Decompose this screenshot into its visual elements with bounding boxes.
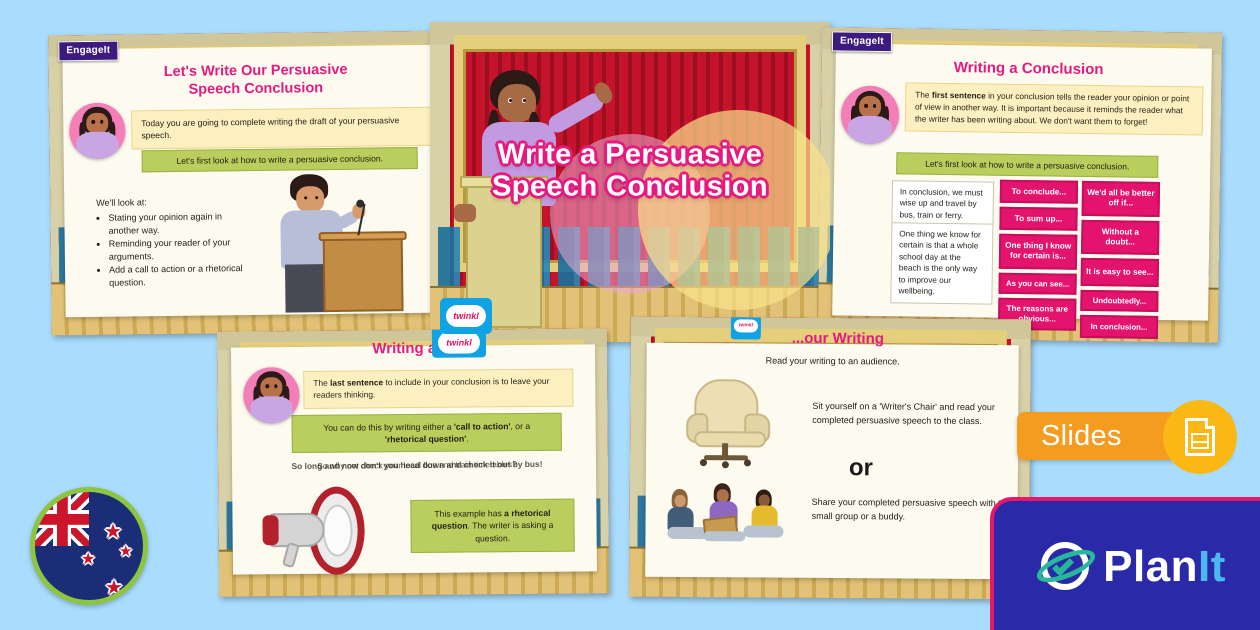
southern-cross-star: ★: [119, 544, 132, 559]
bottom-line-1: This example has: [434, 508, 501, 519]
slide5-text-2: Share your completed persuasive speech w…: [812, 496, 1014, 524]
slide3-phrase-column-right: We'd all be better off if... Without a d…: [1080, 181, 1160, 339]
slide1-cream-box: Today you are going to complete writing …: [131, 107, 431, 150]
slide2-title-block: Write a Persuasive Speech Conclusion: [430, 138, 830, 203]
document-icon: [1163, 400, 1237, 474]
cream-bold: last sentence: [330, 377, 383, 387]
screenshot-canvas: Let's Write Our Persuasive Speech Conclu…: [0, 0, 1260, 630]
cream-pre: The: [313, 378, 330, 388]
transition-text-incoming: So long and now don't you head down and …: [282, 459, 552, 473]
slide-content-area: Writing a C... The last sentence to incl…: [231, 344, 597, 574]
engage-badge: EngageIt: [58, 41, 118, 62]
green-bold-2: 'rhetorical question': [385, 434, 467, 445]
slide2-title-line1: Write a Persuasive: [430, 138, 830, 170]
slide-thumbnail-2-title[interactable]: Write a Persuasive Speech Conclusion twi…: [430, 22, 830, 342]
slide3-phrase-column-left: To conclude... To sum up... One thing I …: [998, 180, 1078, 331]
slide3-cream-box: The first sentence in your conclusion te…: [905, 82, 1204, 135]
green-pre: You can do this by writing either a: [323, 422, 454, 433]
megaphone-illustration: [246, 486, 387, 577]
slide4-cream-box: The last sentence to include in your con…: [303, 369, 573, 409]
slide5-text-1: Sit yourself on a 'Writer's Chair' and r…: [812, 400, 1008, 428]
twinkl-label: twinkl: [453, 311, 479, 321]
list-item: Reminding your reader of your arguments.: [109, 236, 247, 264]
phrase-box[interactable]: It is easy to see...: [1081, 258, 1159, 287]
phrase-box[interactable]: To sum up...: [999, 207, 1077, 231]
avatar: [841, 85, 900, 144]
slide1-list: We'll look at: Stating your opinion agai…: [96, 195, 247, 290]
slide3-title: Writing a Conclusion: [860, 58, 1198, 81]
planit-text-it: It: [1198, 542, 1226, 591]
document-glyph: [1185, 418, 1215, 456]
bottom-line-2: . The writer is asking a question.: [468, 520, 554, 543]
green-mid: , or a: [510, 421, 530, 431]
planit-text-plan: Plan: [1103, 542, 1198, 591]
twinkl-logo-badge-small: twinkl: [731, 317, 761, 340]
cream-bold: first sentence: [932, 90, 986, 101]
cream-pre: The: [915, 90, 932, 100]
union-jack-cross-red: [35, 492, 89, 546]
southern-cross-star: ★: [104, 522, 122, 542]
phrase-box[interactable]: In conclusion...: [1080, 315, 1158, 339]
slide3-green-box: Let's first look at how to write a persu…: [896, 152, 1158, 178]
twinkl-cloud-icon: twinkl: [438, 331, 480, 353]
green-post: .: [466, 434, 468, 444]
avatar: [243, 367, 299, 423]
slide1-list-heading: We'll look at:: [96, 195, 246, 210]
twinkl-label: twinkl: [446, 337, 472, 347]
phrase-box[interactable]: Without a doubt...: [1081, 219, 1159, 255]
slides-badge: Slides: [1017, 400, 1260, 472]
phrase-box[interactable]: We'd all be better off if...: [1082, 181, 1160, 217]
slide2-title-line2: Speech Conclusion: [430, 171, 830, 203]
twinkl-cloud-icon: twinkl: [734, 319, 758, 332]
slide-thumbnail-1[interactable]: Let's Write Our Persuasive Speech Conclu…: [48, 31, 452, 336]
slide-thumbnail-4[interactable]: Writing a C... The last sentence to incl…: [217, 328, 609, 596]
slide4-transition-text: So why not check your local bus and trai…: [282, 459, 552, 487]
slide4-bottom-box: This example has a rhetorical question. …: [410, 499, 574, 554]
slide1-title-line2: Speech Conclusion: [87, 79, 425, 101]
slide5-or-label: or: [796, 454, 926, 483]
southern-cross-star: ★: [105, 578, 123, 598]
slide5-title: ...our Writing: [677, 329, 999, 347]
twinkl-cloud-icon: twinkl: [446, 305, 486, 327]
phrase-box[interactable]: To conclude...: [1000, 180, 1078, 204]
engage-badge: EngageIt: [832, 31, 892, 52]
slide3-example-2: One thing we know for certain is that a …: [890, 222, 993, 304]
boy-at-podium-illustration: [260, 173, 412, 315]
armchair-illustration: [678, 379, 789, 472]
planit-planet-check-icon: [1039, 540, 1093, 594]
avatar: [69, 103, 126, 160]
green-bold-1: 'call to action': [454, 421, 511, 431]
phrase-box[interactable]: Undoubtedly...: [1080, 290, 1158, 312]
planit-wordmark: PlanIt: [1103, 542, 1226, 592]
slide-thumbnail-5[interactable]: ...our Writing Read your writing to an a…: [629, 317, 1031, 600]
children-reading-on-floor-illustration: [667, 483, 797, 546]
planit-logo: PlanIt: [990, 497, 1260, 630]
slide-thumbnail-3[interactable]: Writing a Conclusion The first sentence …: [818, 27, 1222, 343]
slide-content-area: Writing a Conclusion The first sentence …: [832, 43, 1212, 320]
phrase-box[interactable]: As you can see...: [998, 272, 1076, 294]
slide3-example-1: In conclusion, we must wise up and trave…: [891, 180, 994, 228]
phrase-box[interactable]: One thing I know for certain is...: [999, 234, 1077, 270]
list-item: Add a call to action or a rhetorical que…: [109, 262, 247, 290]
slide5-intro: Read your writing to an audience.: [687, 355, 979, 367]
twinkl-label: twinkl: [739, 322, 753, 328]
slides-badge-label: Slides: [1017, 420, 1122, 453]
list-item: Stating your opinion again in another wa…: [108, 210, 246, 238]
slide4-title: Writing a C...: [281, 339, 555, 357]
slide1-green-box: Let's first look at how to write a persu…: [142, 147, 418, 172]
slide-content-area: Let's Write Our Persuasive Speech Conclu…: [62, 45, 441, 318]
new-zealand-flag-icon: ★ ★ ★ ★: [30, 487, 148, 605]
twinkl-logo-badge: twinkl: [440, 298, 492, 334]
southern-cross-star: ★: [81, 552, 95, 568]
slide4-green-box: You can do this by writing either a 'cal…: [292, 413, 562, 453]
slide-content-area: ...our Writing Read your writing to an a…: [645, 343, 1019, 580]
